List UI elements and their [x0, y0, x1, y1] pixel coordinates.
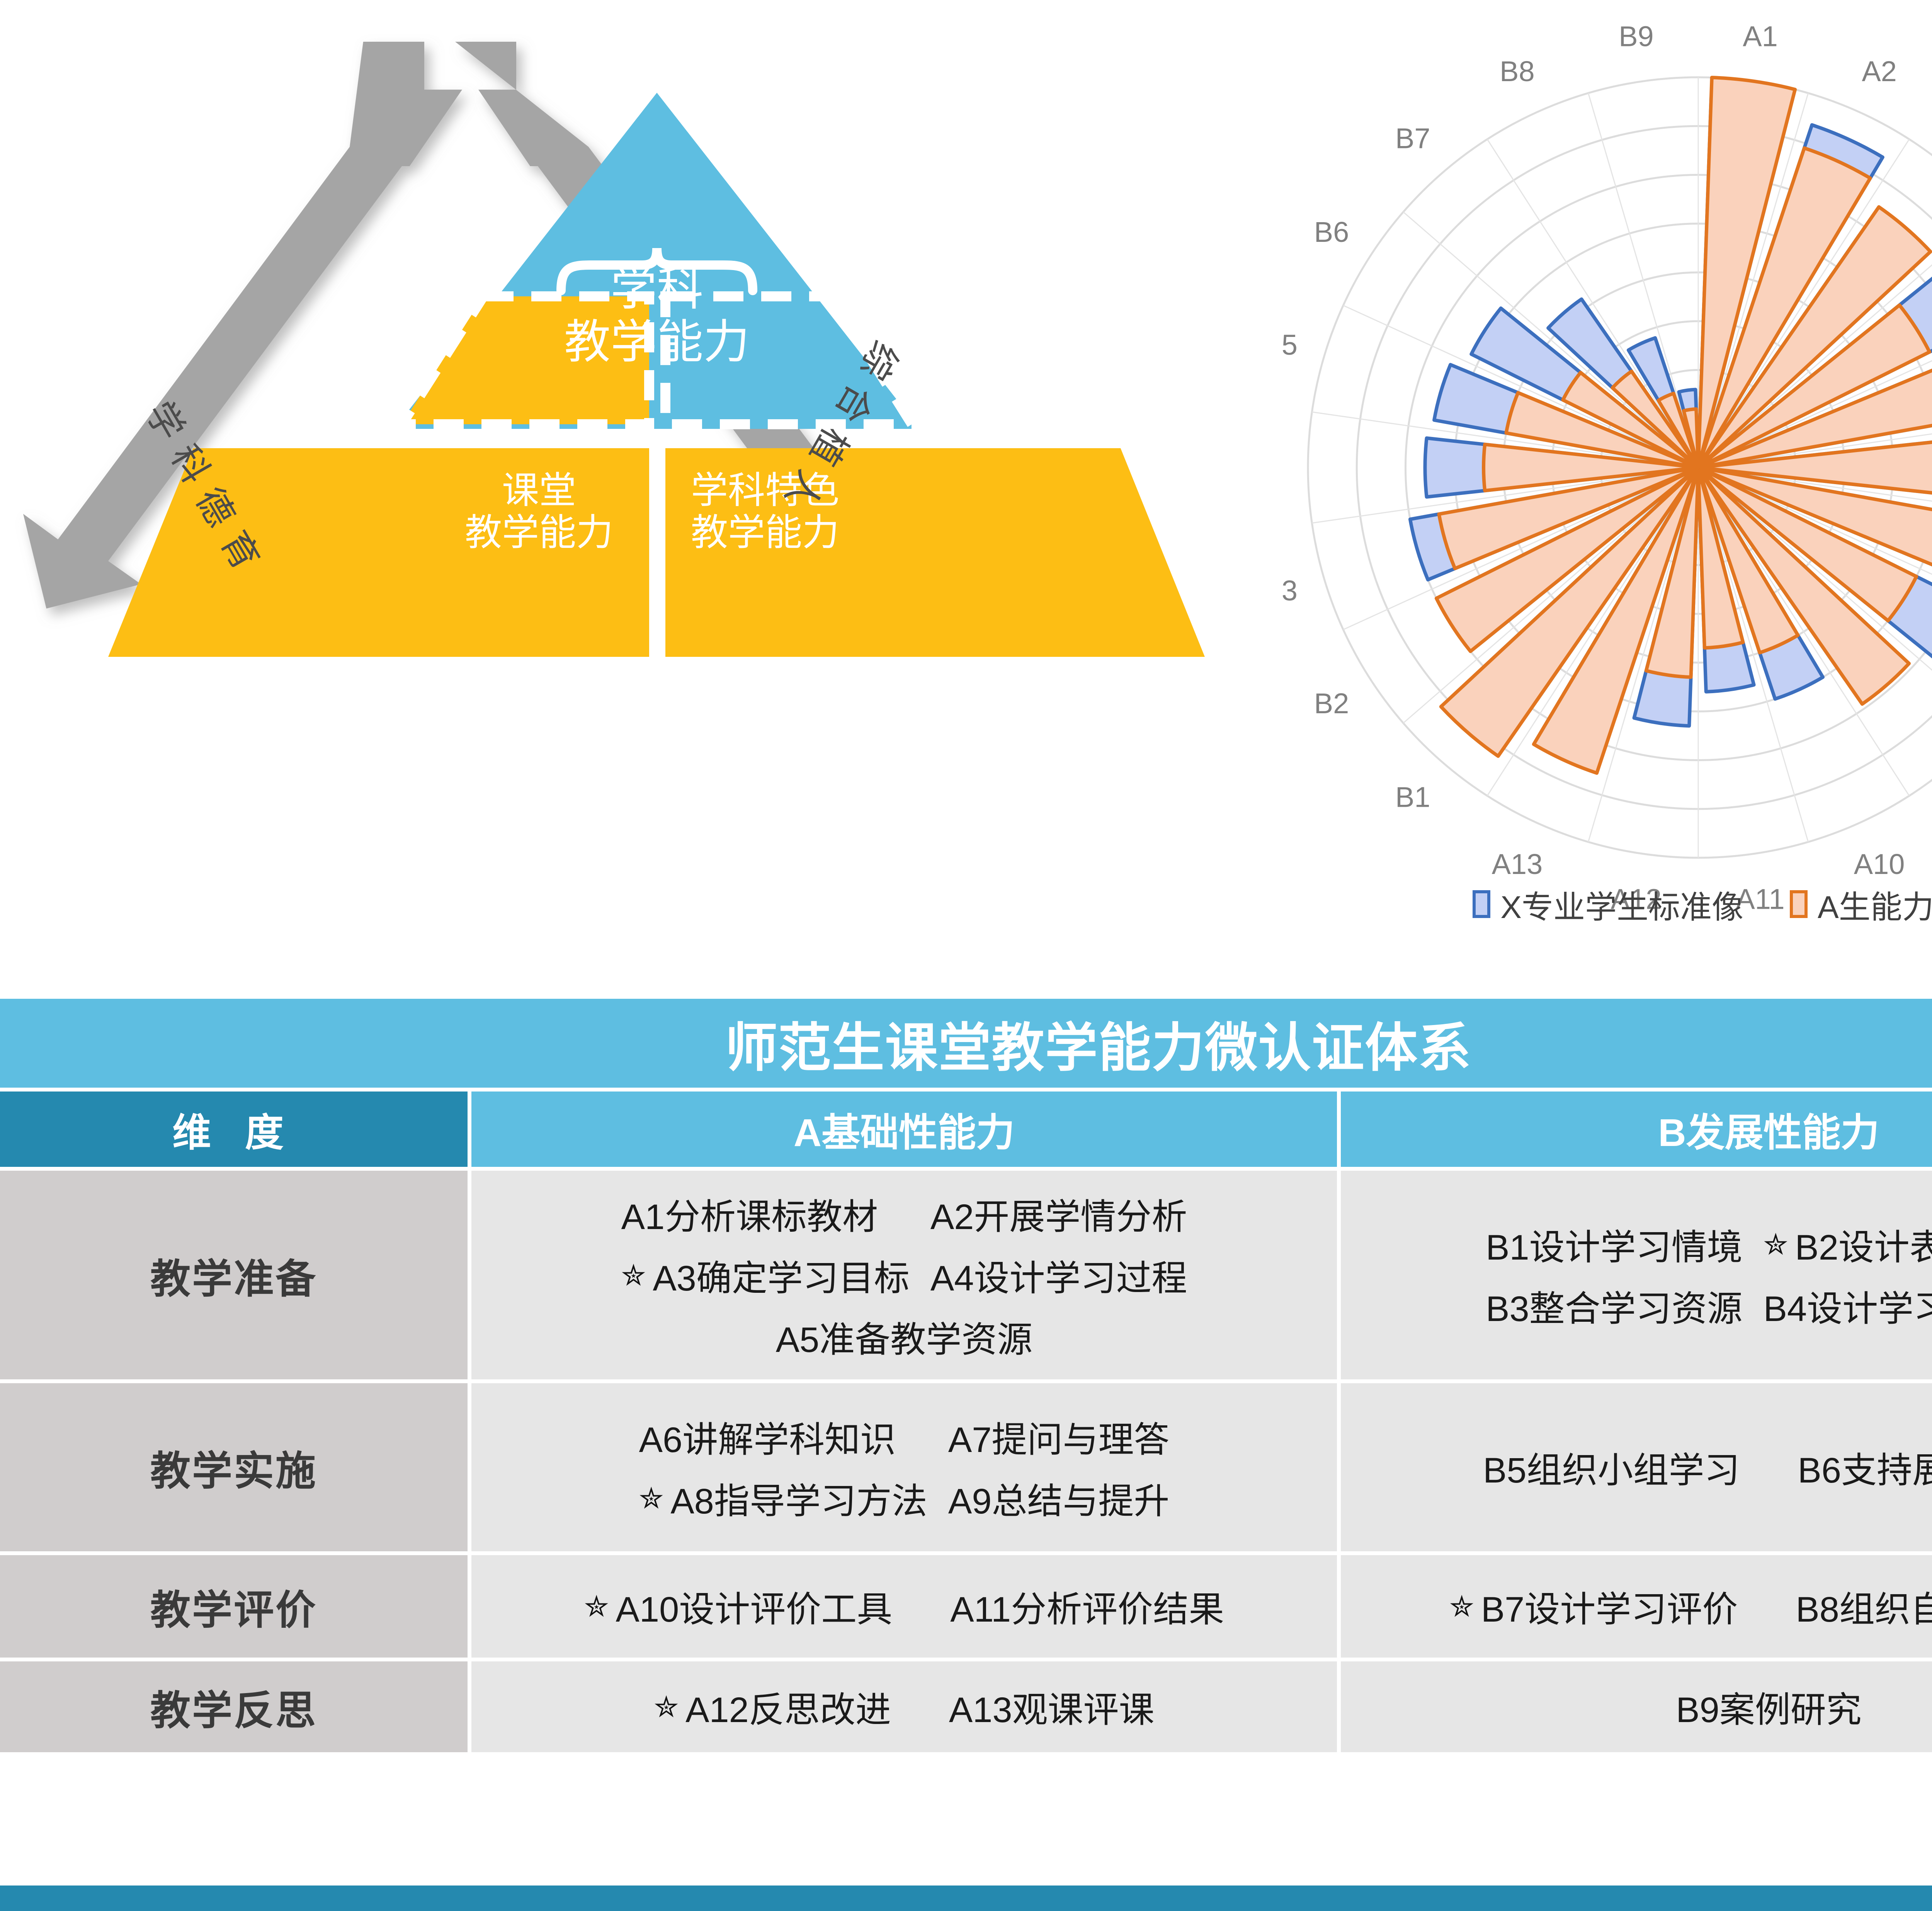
microcert-label: A10设计评价工具	[616, 1581, 893, 1632]
microcert-item[interactable]: A7提问与理答	[948, 1411, 1170, 1462]
col-a-cell-items: A6讲解学科知识A7提问与理答✮A8指导学习方法A9总结与提升	[624, 1411, 1185, 1524]
legend-swatch-student	[1790, 890, 1808, 918]
col-a-cell: ✮A10设计评价工具A11分析评价结果	[471, 1555, 1337, 1658]
capability-pyramid-diagram: 学科 教学能力 课堂 教学能力 学科特色 教学能力 基本教学技能 信息技术应用能…	[0, 0, 1314, 947]
legend-item-standard[interactable]: X专业学生标准像	[1473, 881, 1743, 927]
legend-label-student: A生能力画像	[1818, 881, 1932, 927]
microcert-item[interactable]: A5准备教学资源	[621, 1311, 1187, 1362]
microcert-item[interactable]: ✮A8指导学习方法	[639, 1472, 927, 1524]
chart-legend: X专业学生标准像 A生能力画像	[1283, 879, 1932, 929]
microcert-item[interactable]: A9总结与提升	[948, 1472, 1170, 1524]
star-icon: ✮	[654, 1690, 679, 1724]
table-row: 教学反思✮A12反思改进A13观课评课B9案例研究	[0, 1661, 1932, 1752]
axis-tick-label-B9: B9	[1619, 20, 1654, 52]
col-b-cell-items: B5组织小组学习B6支持展示交流	[1468, 1442, 1932, 1493]
col-a-cell-items: ✮A10设计评价工具A11分析评价结果	[569, 1581, 1240, 1632]
pyramid-base-left-block	[108, 448, 649, 657]
axis-tick-label-B5: B5	[1283, 329, 1298, 361]
star-icon: ✮	[584, 1589, 609, 1624]
microcert-item[interactable]: B4设计学习支架	[1764, 1280, 1932, 1331]
dimension-cell: 教学评价	[0, 1555, 468, 1658]
microcert-label: B5组织小组学习	[1483, 1442, 1740, 1493]
bottom-accent-bar	[0, 1885, 1932, 1911]
microcert-label: A11分析评价结果	[950, 1581, 1224, 1632]
microcert-label: A4设计学习过程	[930, 1250, 1187, 1301]
microcert-label: A12反思改进	[685, 1681, 891, 1732]
col-a-cell: ✮A12反思改进A13观课评课	[471, 1661, 1337, 1752]
pyramid-base-right-block	[665, 448, 1205, 657]
microcert-item[interactable]: ✮B2设计表现任务	[1764, 1219, 1932, 1270]
legend-item-student[interactable]: A生能力画像	[1790, 881, 1932, 927]
microcert-label: B1设计学习情境	[1486, 1219, 1743, 1270]
top-visuals-area: 学科 教学能力 课堂 教学能力 学科特色 教学能力 基本教学技能 信息技术应用能…	[0, 0, 1932, 989]
microcert-label: A13观课评课	[949, 1681, 1155, 1732]
microcert-label: A1分析课标教材	[621, 1188, 878, 1239]
microcert-label: B7设计学习评价	[1481, 1581, 1738, 1632]
microcert-item[interactable]: B9案例研究	[1676, 1681, 1862, 1732]
microcert-item[interactable]: B6支持展示交流	[1798, 1442, 1932, 1493]
table-row: 教学评价✮A10设计评价工具A11分析评价结果✮B7设计学习评价B8组织自评与互…	[0, 1555, 1932, 1658]
microcert-label: A9总结与提升	[948, 1472, 1170, 1524]
microcert-item[interactable]: A4设计学习过程	[930, 1250, 1187, 1301]
microcert-item[interactable]: A11分析评价结果	[950, 1581, 1224, 1632]
pyramid-inner-yellow-block	[402, 296, 649, 424]
table-header-row: 维 度 A基础性能力 B发展性能力	[0, 1092, 1932, 1167]
col-b-cell: B9案例研究	[1341, 1661, 1932, 1752]
microcert-label: A5准备教学资源	[776, 1311, 1033, 1362]
microcert-item[interactable]: B5组织小组学习	[1483, 1442, 1740, 1493]
axis-tick-label-B8: B8	[1500, 55, 1535, 87]
axis-tick-label-A1: A1	[1743, 20, 1778, 52]
microcert-label: B9案例研究	[1676, 1681, 1862, 1732]
star-icon: ✮	[639, 1481, 664, 1515]
microcert-label: B3整合学习资源	[1486, 1280, 1743, 1331]
microcert-label: B8组织自评与互评	[1796, 1581, 1932, 1632]
microcert-item[interactable]: B1设计学习情境	[1486, 1219, 1743, 1270]
microcert-label: A3确定学习目标	[653, 1250, 910, 1301]
star-icon: ✮	[1449, 1589, 1474, 1624]
header-col-b: B发展性能力	[1341, 1092, 1932, 1167]
microcert-item[interactable]: B3整合学习资源	[1486, 1280, 1743, 1331]
microcert-label: B2设计表现任务	[1795, 1219, 1932, 1270]
microcert-item[interactable]: A2开展学情分析	[930, 1188, 1187, 1239]
capability-rose-chart: A1A2A3A4A5A6A7A8A9A10A11A12A13B1B2B3B4B5…	[1283, 12, 1932, 950]
star-icon: ✮	[621, 1258, 646, 1292]
axis-tick-label-A13: A13	[1492, 848, 1543, 880]
header-col-a: A基础性能力	[471, 1092, 1337, 1167]
microcert-item[interactable]: A6讲解学科知识	[639, 1411, 927, 1462]
microcert-label: A8指导学习方法	[670, 1472, 927, 1524]
axis-tick-label-A10: A10	[1854, 848, 1905, 880]
col-a-cell-items: A1分析课标教材A2开展学情分析✮A3确定学习目标A4设计学习过程A5准备教学资…	[606, 1188, 1203, 1362]
legend-label-standard: X专业学生标准像	[1500, 881, 1743, 927]
axis-tick-label-B6: B6	[1314, 216, 1349, 248]
microcert-item[interactable]: ✮A3确定学习目标	[621, 1250, 910, 1301]
microcert-label: B6支持展示交流	[1798, 1442, 1932, 1493]
microcert-item[interactable]: ✮B7设计学习评价	[1449, 1581, 1738, 1632]
col-b-cell: B5组织小组学习B6支持展示交流	[1341, 1383, 1932, 1551]
axis-tick-label-B1: B1	[1395, 781, 1430, 813]
microcert-label: A2开展学情分析	[930, 1188, 1187, 1239]
dimension-cell: 教学准备	[0, 1171, 468, 1379]
microcertification-table: 师范生课堂教学能力微认证体系 维 度 A基础性能力 B发展性能力 教学准备A1分…	[0, 999, 1932, 1752]
col-a-cell-items: ✮A12反思改进A13观课评课	[638, 1681, 1170, 1732]
axis-tick-label-B7: B7	[1395, 122, 1430, 155]
axis-tick-label-B2: B2	[1314, 687, 1349, 719]
table-row: 教学实施A6讲解学科知识A7提问与理答✮A8指导学习方法A9总结与提升B5组织小…	[0, 1383, 1932, 1551]
page-title: 师范生课堂教学能力微认证体系	[0, 999, 1932, 1088]
table-row: 教学准备A1分析课标教材A2开展学情分析✮A3确定学习目标A4设计学习过程A5准…	[0, 1171, 1932, 1379]
dimension-cell: 教学实施	[0, 1383, 468, 1551]
rose-chart-svg: A1A2A3A4A5A6A7A8A9A10A11A12A13B1B2B3B4B5…	[1283, 12, 1932, 950]
col-b-cell-items: B9案例研究	[1660, 1681, 1877, 1732]
microcert-item[interactable]: ✮A10设计评价工具	[584, 1581, 892, 1632]
microcert-item[interactable]: A1分析课标教材	[621, 1188, 910, 1239]
col-a-cell: A1分析课标教材A2开展学情分析✮A3确定学习目标A4设计学习过程A5准备教学资…	[471, 1171, 1337, 1379]
table-body: 教学准备A1分析课标教材A2开展学情分析✮A3确定学习目标A4设计学习过程A5准…	[0, 1171, 1932, 1752]
dimension-cell: 教学反思	[0, 1661, 468, 1752]
axis-tick-label-A2: A2	[1862, 55, 1897, 87]
microcert-item[interactable]: B8组织自评与互评	[1796, 1581, 1932, 1632]
col-b-cell: B1设计学习情境✮B2设计表现任务B3整合学习资源B4设计学习支架	[1341, 1171, 1932, 1379]
legend-swatch-standard	[1473, 890, 1490, 918]
microcert-label: A7提问与理答	[948, 1411, 1170, 1462]
col-b-cell-items: B1设计学习情境✮B2设计表现任务B3整合学习资源B4设计学习支架	[1470, 1219, 1932, 1331]
col-a-cell: A6讲解学科知识A7提问与理答✮A8指导学习方法A9总结与提升	[471, 1383, 1337, 1551]
microcert-label: A6讲解学科知识	[639, 1411, 896, 1462]
pyramid-svg	[0, 0, 1314, 947]
microcert-item[interactable]: A13观课评课	[949, 1681, 1155, 1732]
col-b-cell: ✮B7设计学习评价B8组织自评与互评	[1341, 1555, 1932, 1658]
axis-tick-label-B3: B3	[1283, 575, 1298, 607]
microcert-label: B4设计学习支架	[1764, 1280, 1932, 1331]
col-b-cell-items: ✮B7设计学习评价B8组织自评与互评	[1434, 1581, 1932, 1632]
star-icon: ✮	[1764, 1227, 1788, 1262]
microcert-item[interactable]: ✮A12反思改进	[654, 1681, 891, 1732]
header-dimension: 维 度	[0, 1092, 468, 1167]
